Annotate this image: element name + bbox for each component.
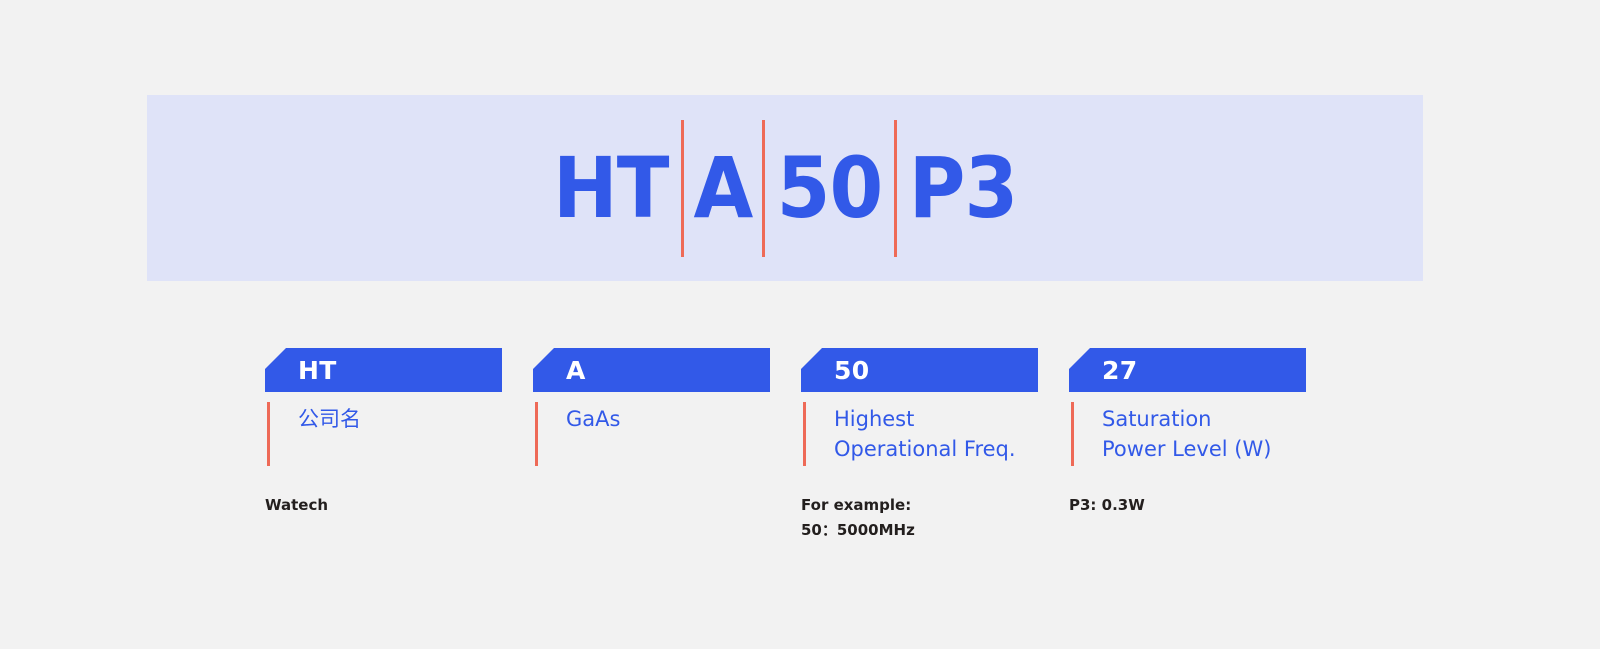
legend-card-code: 50 <box>834 358 869 383</box>
code-segment-power: P3 <box>902 146 1023 230</box>
legend-card-description: Saturation Power Level (W) <box>1102 404 1306 464</box>
legend-card-header: A <box>533 348 770 392</box>
legend-card-code: 27 <box>1102 358 1137 383</box>
tick-mark-icon <box>267 402 270 466</box>
tick-mark-icon <box>1071 402 1074 466</box>
legend-card-body: Saturation Power Level (W) <box>1069 392 1306 481</box>
legend-card-code: A <box>566 358 586 383</box>
legend-card-code: HT <box>298 358 337 383</box>
legend-card-note: For example: 50：5000MHz <box>801 493 1038 543</box>
legend-card-body: Highest Operational Freq. <box>801 392 1038 481</box>
part-number-code: HT A 50 P3 <box>147 95 1423 281</box>
code-segment-company: HT <box>547 146 675 230</box>
legend-card-description: 公司名 <box>298 404 502 434</box>
legend-card-header: 50 <box>801 348 1038 392</box>
legend-card-description: Highest Operational Freq. <box>834 404 1038 464</box>
code-segment-frequency: 50 <box>770 146 889 230</box>
legend-card-header: 27 <box>1069 348 1306 392</box>
legend-card-note: Watech <box>265 493 502 518</box>
code-segment-material: A <box>687 146 759 230</box>
part-number-band: HT A 50 P3 <box>147 95 1423 281</box>
legend-card-company: HT 公司名 Watech <box>265 348 502 543</box>
legend-card-body: GaAs <box>533 392 770 481</box>
code-divider-icon-3 <box>894 120 897 257</box>
legend-card-description: GaAs <box>566 404 770 434</box>
legend-card-material: A GaAs <box>533 348 770 543</box>
legend-card-power: 27 Saturation Power Level (W) P3: 0.3W <box>1069 348 1306 543</box>
tick-mark-icon <box>535 402 538 466</box>
tick-mark-icon <box>803 402 806 466</box>
legend-card-list: HT 公司名 Watech A GaAs 50 Highest Operatio… <box>265 348 1365 543</box>
code-divider-icon-1 <box>681 120 684 257</box>
legend-card-frequency: 50 Highest Operational Freq. For example… <box>801 348 1038 543</box>
legend-card-note: P3: 0.3W <box>1069 493 1306 518</box>
legend-card-body: 公司名 <box>265 392 502 481</box>
legend-card-header: HT <box>265 348 502 392</box>
code-divider-icon-2 <box>762 120 765 257</box>
